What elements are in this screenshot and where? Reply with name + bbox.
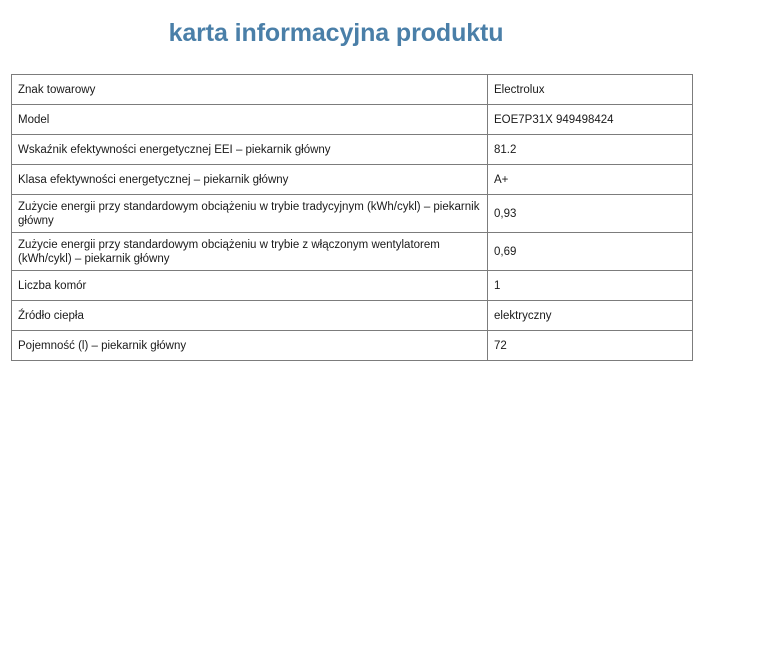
product-information-table: Znak towarowy Electrolux Model EOE7P31X … [11, 74, 693, 361]
table-row: Pojemność (l) – piekarnik główny 72 [12, 331, 693, 361]
row-label: Liczba komór [12, 271, 488, 301]
row-value: elektryczny [488, 301, 693, 331]
row-label: Pojemność (l) – piekarnik główny [12, 331, 488, 361]
row-label: Zużycie energii przy standardowym obciąż… [12, 195, 488, 233]
row-label: Źródło ciepła [12, 301, 488, 331]
row-label: Znak towarowy [12, 75, 488, 105]
table-row: Liczba komór 1 [12, 271, 693, 301]
row-value: Electrolux [488, 75, 693, 105]
table-row: Zużycie energii przy standardowym obciąż… [12, 233, 693, 271]
table-row: Źródło ciepła elektryczny [12, 301, 693, 331]
page-title: karta informacyjna produktu [0, 17, 672, 49]
row-value: 0,93 [488, 195, 693, 233]
table-row: Znak towarowy Electrolux [12, 75, 693, 105]
row-value: 72 [488, 331, 693, 361]
row-label: Klasa efektywności energetycznej – pieka… [12, 165, 488, 195]
row-label: Wskaźnik efektywności energetycznej EEI … [12, 135, 488, 165]
row-value: A+ [488, 165, 693, 195]
row-value: 1 [488, 271, 693, 301]
row-value: 0,69 [488, 233, 693, 271]
row-label: Zużycie energii przy standardowym obciąż… [12, 233, 488, 271]
table-row: Model EOE7P31X 949498424 [12, 105, 693, 135]
row-value: EOE7P31X 949498424 [488, 105, 693, 135]
table-row: Klasa efektywności energetycznej – pieka… [12, 165, 693, 195]
row-value: 81.2 [488, 135, 693, 165]
table-row: Wskaźnik efektywności energetycznej EEI … [12, 135, 693, 165]
table-row: Zużycie energii przy standardowym obciąż… [12, 195, 693, 233]
product-table-body: Znak towarowy Electrolux Model EOE7P31X … [12, 75, 693, 361]
row-label: Model [12, 105, 488, 135]
